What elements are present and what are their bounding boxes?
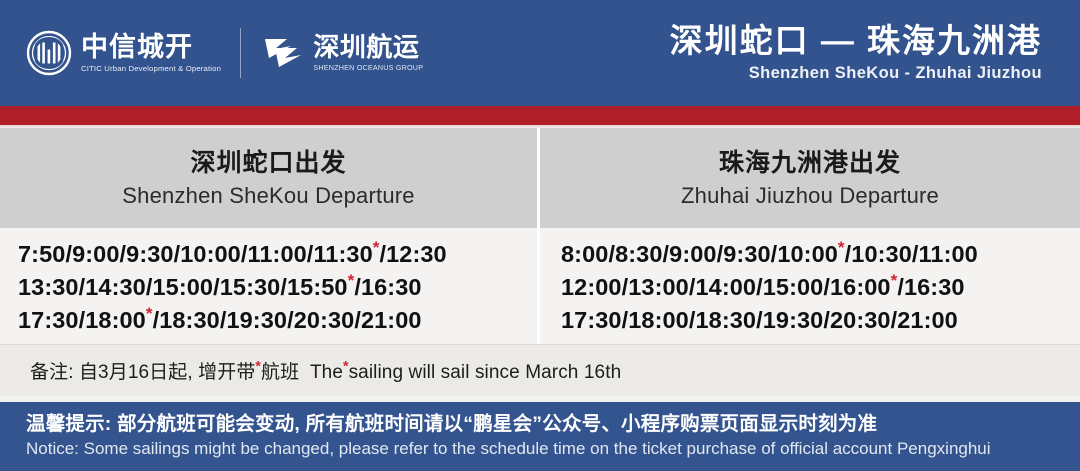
accent-red-bar (0, 106, 1080, 125)
column-header-jiuzhou-en: Zhuhai Jiuzhou Departure (681, 182, 939, 210)
column-header-shekou-cn: 深圳蛇口出发 (190, 148, 346, 178)
departure-time: 21:00 (897, 307, 958, 333)
time-line: 17:30/18:00/18:30/19:30/20:30/21:00 (561, 304, 1080, 337)
schedule-column-jiuzhou: 珠海九洲港出发 Zhuhai Jiuzhou Departure 8:00/8:… (540, 128, 1080, 344)
departure-time: 18:30 (696, 307, 757, 333)
departure-time: 9:00 (669, 241, 716, 267)
departure-time: 14:30 (85, 274, 146, 300)
departure-time: 11:30 (313, 241, 372, 267)
column-header-shekou: 深圳蛇口出发 Shenzhen SheKou Departure (0, 128, 537, 228)
remark-en-after: sailing will sail since March 16th (349, 362, 622, 383)
departure-time: 18:30 (159, 307, 220, 333)
remark-text: 备注: 自3月16日起, 增开带*航班 The*sailing will sai… (30, 357, 621, 384)
route-title-en: Shenzhen SheKou - Zhuhai Jiuzhou (670, 64, 1042, 84)
departure-time: 9:30 (723, 241, 770, 267)
schedule-header-row: 深圳蛇口出发 Shenzhen SheKou Departure 7:50/9:… (0, 128, 1080, 344)
departure-time: 17:30 (561, 307, 622, 333)
brand-oceanus: 深圳航运 SHENZHEN OCEANUS GROUP (261, 33, 423, 73)
poster-header: 中信城开 CITIC Urban Development & Operation… (0, 0, 1080, 106)
remark-row: 备注: 自3月16日起, 增开带*航班 The*sailing will sai… (0, 345, 1080, 396)
brand-citic: 中信城开 CITIC Urban Development & Operation (26, 30, 218, 76)
times-list-jiuzhou: 8:00/8:30/9:00/9:30/10:00*/10:30/11:0012… (540, 228, 1080, 344)
departure-time: 21:00 (361, 307, 422, 333)
departure-time: 18:00 (85, 307, 146, 333)
departure-time: 19:30 (763, 307, 824, 333)
departure-time: 12:00 (561, 274, 622, 300)
departure-time: 16:30 (904, 274, 965, 300)
notice-footer: 温馨提示: 部分航班可能会变动, 所有航班时间请以“鹏星会”公众号、小程序购票页… (0, 402, 1080, 471)
departure-time: 15:50 (287, 274, 348, 300)
departure-time: 16:30 (361, 274, 422, 300)
departure-time: 15:00 (153, 274, 214, 300)
departure-time: 9:00 (72, 241, 119, 267)
departure-time: 10:00 (180, 241, 241, 267)
departure-time: 17:30 (18, 307, 79, 333)
oceanus-wordmark: 深圳航运 SHENZHEN OCEANUS GROUP (313, 34, 423, 73)
time-line: 7:50/9:00/9:30/10:00/11:00/11:30*/12:30 (18, 238, 537, 271)
asterisk-marker: * (348, 271, 355, 290)
departure-time: 10:30 (851, 241, 912, 267)
asterisk-marker: * (146, 304, 153, 323)
time-line: 13:30/14:30/15:00/15:30/15:50*/16:30 (18, 271, 537, 304)
shenzhen-oceanus-s-mark-icon (261, 33, 305, 73)
brand-divider (240, 28, 241, 78)
column-header-jiuzhou-cn: 珠海九洲港出发 (719, 148, 901, 178)
notice-text-cn: 温馨提示: 部分航班可能会变动, 所有航班时间请以“鹏星会”公众号、小程序购票页… (26, 411, 1080, 437)
departure-time: 9:30 (126, 241, 173, 267)
schedule-table: 深圳蛇口出发 Shenzhen SheKou Departure 7:50/9:… (0, 128, 1080, 344)
asterisk-marker: * (838, 238, 845, 257)
time-line: 8:00/8:30/9:00/9:30/10:00*/10:30/11:00 (561, 238, 1080, 271)
departure-time: 19:30 (226, 307, 287, 333)
departure-time: 15:30 (220, 274, 281, 300)
departure-time: 11:00 (247, 241, 306, 267)
citic-name-cn: 中信城开 (81, 33, 218, 61)
departure-time: 14:00 (696, 274, 757, 300)
departure-time: 7:50 (18, 241, 65, 267)
route-title: 深圳蛇口 — 珠海九洲港 Shenzhen SheKou - Zhuhai Ji… (670, 22, 1050, 84)
departure-time: 11:00 (919, 241, 978, 267)
departure-time: 15:00 (763, 274, 824, 300)
departure-time: 18:00 (628, 307, 689, 333)
notice-text-en: Notice: Some sailings might be changed, … (26, 438, 1080, 461)
departure-time: 20:30 (830, 307, 891, 333)
citic-name-en: CITIC Urban Development & Operation (81, 64, 221, 73)
asterisk-marker: * (891, 271, 898, 290)
departure-time: 8:00 (561, 241, 608, 267)
asterisk-marker: * (373, 238, 380, 257)
departure-time: 13:30 (18, 274, 79, 300)
remark-cn-after: 航班 (261, 362, 310, 383)
departure-time: 20:30 (294, 307, 355, 333)
column-header-jiuzhou: 珠海九洲港出发 Zhuhai Jiuzhou Departure (540, 128, 1080, 228)
departure-time: 12:30 (386, 241, 447, 267)
remark-cn-before: 备注: 自3月16日起, 增开带 (30, 362, 255, 383)
ferry-schedule-poster: 中信城开 CITIC Urban Development & Operation… (0, 0, 1080, 471)
time-line: 12:00/13:00/14:00/15:00/16:00*/16:30 (561, 271, 1080, 304)
citic-circle-logo-icon (26, 30, 72, 76)
departure-time: 8:30 (615, 241, 662, 267)
departure-time: 16:00 (830, 274, 891, 300)
column-header-shekou-en: Shenzhen SheKou Departure (122, 182, 414, 210)
oceanus-name-en: SHENZHEN OCEANUS GROUP (313, 64, 423, 73)
departure-time: 13:00 (628, 274, 689, 300)
remark-en-before: The (310, 362, 343, 383)
brand-logos: 中信城开 CITIC Urban Development & Operation… (26, 24, 423, 82)
departure-time: 10:00 (777, 241, 838, 267)
oceanus-name-cn: 深圳航运 (313, 34, 423, 61)
time-line: 17:30/18:00*/18:30/19:30/20:30/21:00 (18, 304, 537, 337)
route-title-cn: 深圳蛇口 — 珠海九洲港 (670, 22, 1042, 60)
times-list-shekou: 7:50/9:00/9:30/10:00/11:00/11:30*/12:301… (0, 228, 537, 344)
schedule-column-shekou: 深圳蛇口出发 Shenzhen SheKou Departure 7:50/9:… (0, 128, 540, 344)
citic-wordmark: 中信城开 CITIC Urban Development & Operation (81, 33, 218, 73)
